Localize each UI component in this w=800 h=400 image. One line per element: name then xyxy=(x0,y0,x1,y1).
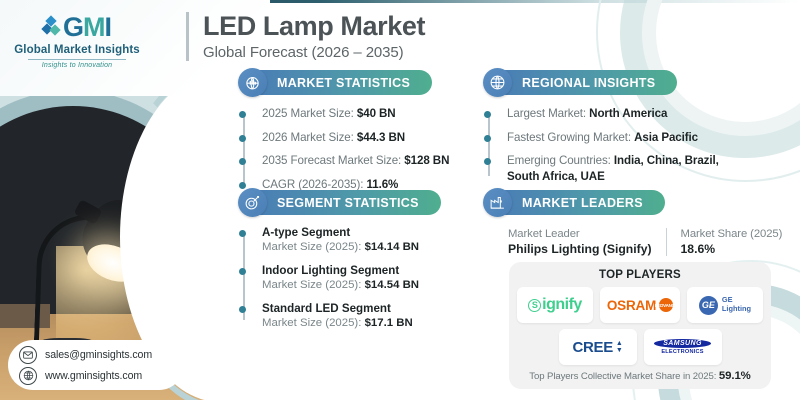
section-regional-insights: REGIONAL INSIGHTS Largest Market: North … xyxy=(483,68,783,185)
market-share-caption: Market Share (2025) xyxy=(681,228,783,240)
gmi-logo: GMI Global Market Insights Insights to I… xyxy=(14,14,140,69)
stat-item: 2026 Market Size: $44.3 BN xyxy=(252,130,458,146)
page-subtitle: Global Forecast (2026 – 2035) xyxy=(203,44,425,61)
section-market-leaders: MARKET LEADERS Market Leader Philips Lig… xyxy=(483,188,783,256)
factory-icon xyxy=(483,188,512,217)
globe-icon xyxy=(19,367,37,385)
page-title-block: LED Lamp Market Global Forecast (2026 – … xyxy=(186,12,425,61)
regional-insights-list: Largest Market: North America Fastest Gr… xyxy=(483,106,783,185)
logo-mark: GMI xyxy=(14,14,140,41)
segment-statistics-label: SEGMENT STATISTICS xyxy=(259,190,441,215)
page-title: LED Lamp Market xyxy=(203,12,425,41)
market-leaders-label: MARKET LEADERS xyxy=(504,190,665,215)
section-segment-statistics: SEGMENT STATISTICS A-type Segment Market… xyxy=(238,188,458,329)
segment-name: A-type Segment xyxy=(252,226,458,239)
timeline-rail xyxy=(488,113,490,176)
contact-website-row[interactable]: www.gminsights.com xyxy=(19,367,184,385)
signify-wordmark: Signify xyxy=(528,296,582,314)
logo-wordmark: GMI xyxy=(63,14,111,41)
osram-wordmark: OSRAM LEDVANCE xyxy=(607,298,673,313)
logo-company-name: Global Market Insights xyxy=(14,44,140,56)
ge-lighting-wordmark: GE GELighting xyxy=(699,296,751,315)
segment-statistics-list: A-type Segment Market Size (2025): $14.1… xyxy=(238,226,458,329)
cree-wordmark: CREE ▲▼ xyxy=(572,339,622,356)
infographic-canvas: GMI Global Market Insights Insights to I… xyxy=(0,0,800,400)
samsung-wordmark: SAMSUNG ELECTRONICS xyxy=(654,339,711,355)
segment-name: Indoor Lighting Segment xyxy=(252,264,458,277)
globe-chart-icon xyxy=(238,68,267,97)
segment-item: Standard LED Segment Market Size (2025):… xyxy=(252,302,458,329)
segment-item: Indoor Lighting Segment Market Size (202… xyxy=(252,264,458,291)
samsung-oval-icon: SAMSUNG xyxy=(654,339,711,348)
market-share-value: 18.6% xyxy=(681,242,783,256)
ledvance-badge-icon: LEDVANCE xyxy=(659,298,673,312)
market-leaders-header: MARKET LEADERS xyxy=(483,188,783,217)
market-statistics-header: MARKET STATISTICS xyxy=(238,68,458,97)
cree-arrows-icon: ▲▼ xyxy=(616,341,623,353)
player-logo-osram[interactable]: OSRAM LEDVANCE xyxy=(600,287,680,323)
target-chart-icon xyxy=(238,188,267,217)
diamond-cluster-icon xyxy=(43,17,61,39)
stat-item: Emerging Countries: India, China, Brazil… xyxy=(497,153,783,184)
stat-item: Largest Market: North America xyxy=(497,106,783,122)
contact-email: sales@gminsights.com xyxy=(45,349,152,361)
logo-tagline: Insights to Innovation xyxy=(14,62,140,69)
contact-email-row[interactable]: sales@gminsights.com xyxy=(19,346,184,364)
regional-insights-label: REGIONAL INSIGHTS xyxy=(504,70,677,95)
top-players-card: TOP PLAYERS Signify OSRAM LEDVANCE GE GE… xyxy=(509,262,771,389)
ge-monogram-icon: GE xyxy=(699,296,718,315)
player-logo-samsung[interactable]: SAMSUNG ELECTRONICS xyxy=(644,329,722,365)
top-players-title: TOP PLAYERS xyxy=(517,269,763,281)
samsung-subtext: ELECTRONICS xyxy=(661,349,703,355)
ge-lighting-text: GELighting xyxy=(722,296,751,313)
segment-item: A-type Segment Market Size (2025): $14.1… xyxy=(252,226,458,253)
market-leaders-grid: Market Leader Philips Lighting (Signify)… xyxy=(483,228,783,256)
segment-value: Market Size (2025): $14.14 BN xyxy=(252,241,458,253)
stat-item: 2025 Market Size: $40 BN xyxy=(252,106,458,122)
top-players-row-2: CREE ▲▼ SAMSUNG ELECTRONICS xyxy=(517,329,763,365)
market-share-column: Market Share (2025) 18.6% xyxy=(666,228,783,256)
stat-item: 2035 Forecast Market Size: $128 BN xyxy=(252,153,458,169)
top-players-footer: Top Players Collective Market Share in 2… xyxy=(517,370,763,382)
contact-website: www.gminsights.com xyxy=(45,370,142,382)
signify-s-icon: S xyxy=(528,299,541,312)
player-logo-cree[interactable]: CREE ▲▼ xyxy=(559,329,637,365)
contact-bar: sales@gminsights.com www.gminsights.com xyxy=(8,340,184,390)
section-market-statistics: MARKET STATISTICS 2025 Market Size: $40 … xyxy=(238,68,458,193)
timeline-rail xyxy=(243,113,245,184)
stat-item: Fastest Growing Market: Asia Pacific xyxy=(497,130,783,146)
market-leader-value: Philips Lighting (Signify) xyxy=(508,242,652,256)
envelope-icon xyxy=(19,346,37,364)
segment-value: Market Size (2025): $17.1 BN xyxy=(252,317,458,329)
top-players-row-1: Signify OSRAM LEDVANCE GE GELighting xyxy=(517,287,763,323)
market-leader-column: Market Leader Philips Lighting (Signify) xyxy=(508,228,666,256)
market-leader-caption: Market Leader xyxy=(508,228,652,240)
segment-statistics-header: SEGMENT STATISTICS xyxy=(238,188,458,217)
segment-value: Market Size (2025): $14.54 BN xyxy=(252,279,458,291)
player-logo-ge-lighting[interactable]: GE GELighting xyxy=(687,287,763,323)
market-statistics-label: MARKET STATISTICS xyxy=(259,70,432,95)
player-logo-signify[interactable]: Signify xyxy=(517,287,593,323)
regional-insights-header: REGIONAL INSIGHTS xyxy=(483,68,783,97)
segment-name: Standard LED Segment xyxy=(252,302,458,315)
logo-divider xyxy=(28,59,126,60)
market-statistics-list: 2025 Market Size: $40 BN 2026 Market Siz… xyxy=(238,106,458,193)
globe-icon xyxy=(483,68,512,97)
